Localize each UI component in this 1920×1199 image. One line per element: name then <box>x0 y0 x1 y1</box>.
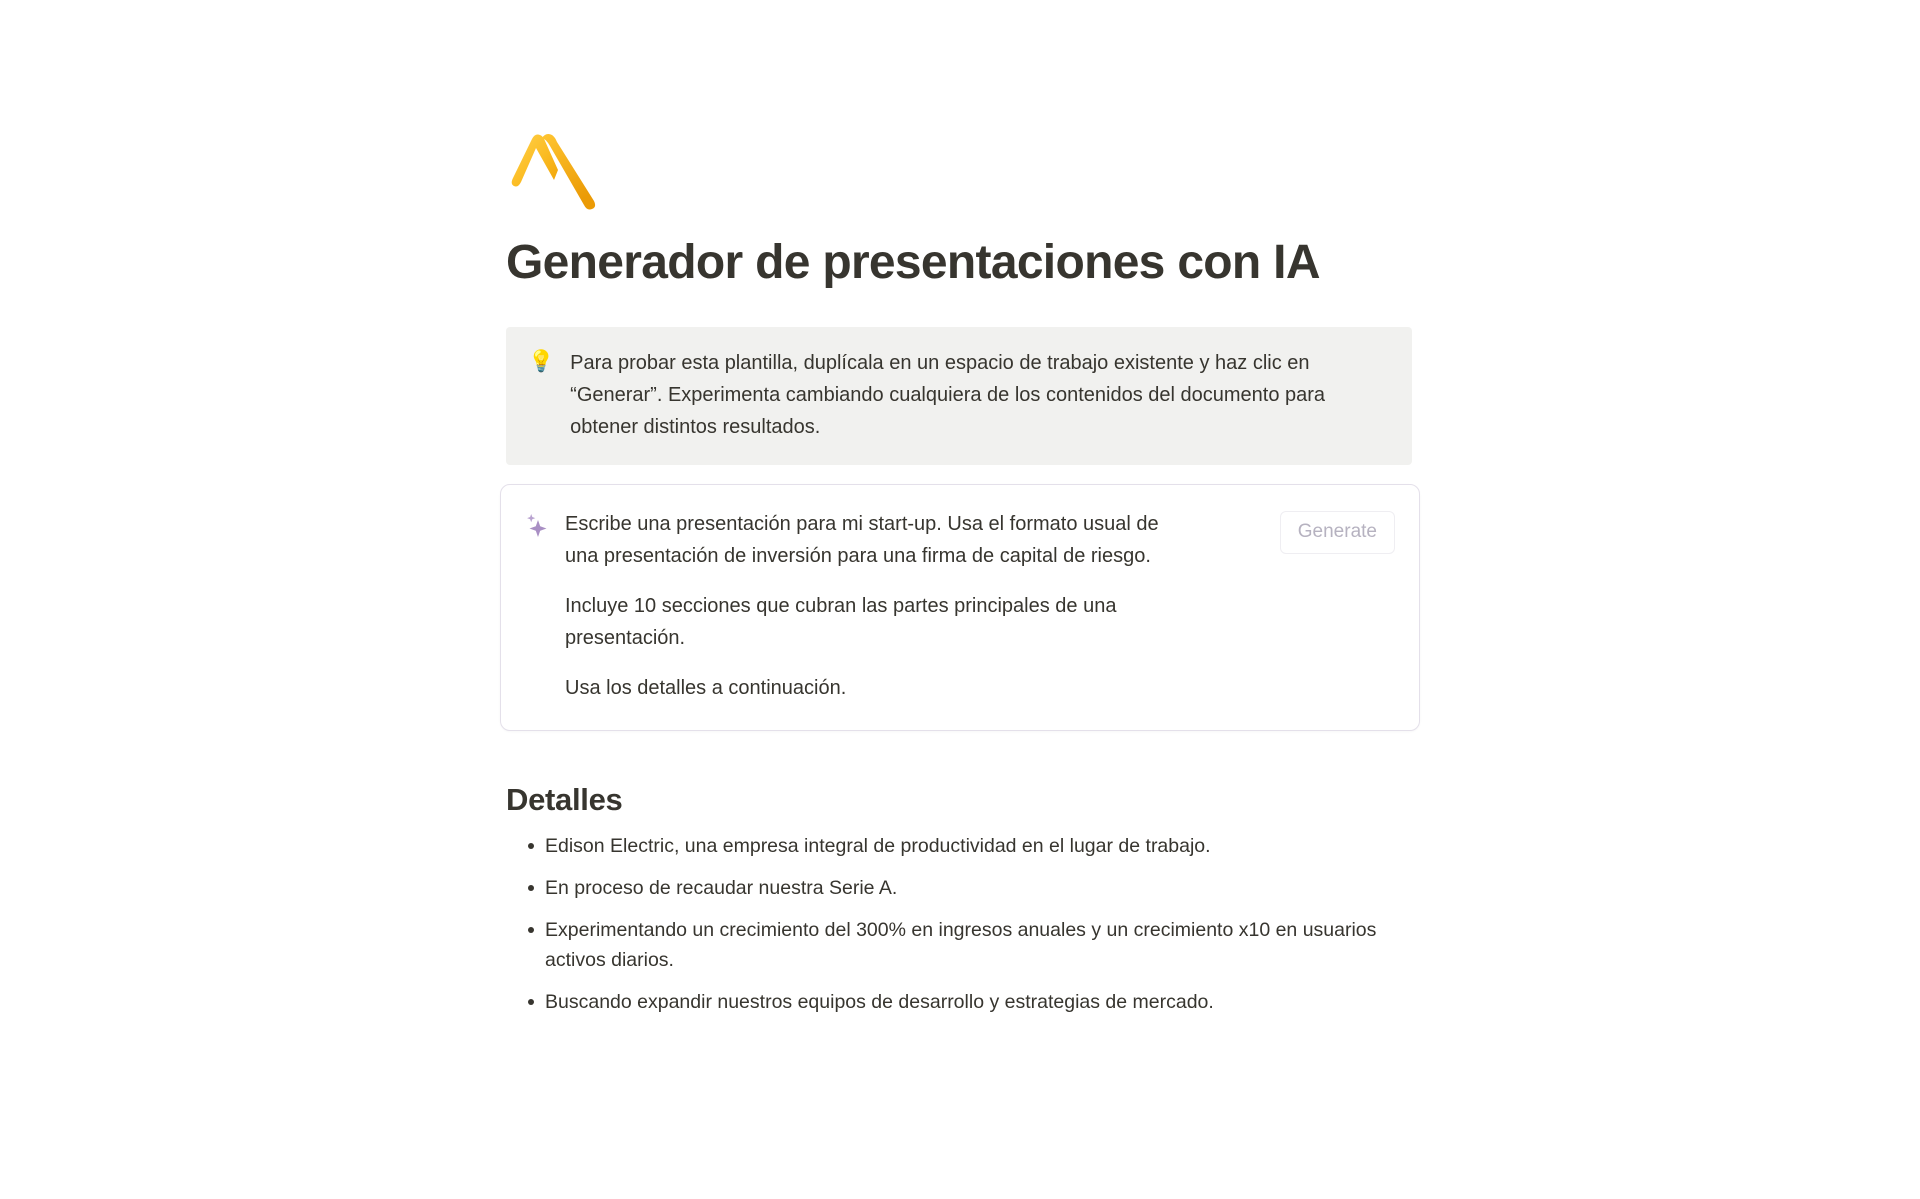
page-title: Generador de presentaciones con IA <box>506 234 1346 293</box>
prompt-paragraph: Usa los detalles a continuación. <box>565 672 1165 704</box>
list-item: Experimentando un crecimiento del 300% e… <box>506 915 1386 975</box>
lightbulb-icon: 💡 <box>528 348 554 376</box>
ai-sparkle-icon <box>525 513 551 541</box>
list-item: Buscando expandir nuestros equipos de de… <box>506 987 1386 1017</box>
list-item: Edison Electric, una empresa integral de… <box>506 831 1386 861</box>
list-item: En proceso de recaudar nuestra Serie A. <box>506 873 1386 903</box>
tip-callout: 💡 Para probar esta plantilla, duplícala … <box>506 327 1412 465</box>
mountain-m-logo-icon <box>506 122 616 210</box>
details-heading: Detalles <box>506 780 1422 820</box>
generate-button[interactable]: Generate <box>1280 511 1395 554</box>
document-content: Generador de presentaciones con IA 💡 Par… <box>506 0 1422 1017</box>
details-list: Edison Electric, una empresa integral de… <box>506 831 1422 1017</box>
document-page: Generador de presentaciones con IA 💡 Par… <box>0 0 1920 1199</box>
prompt-paragraph: Incluye 10 secciones que cubran las part… <box>565 590 1165 654</box>
tip-callout-text: Para probar esta plantilla, duplícala en… <box>570 347 1390 443</box>
ai-prompt-text[interactable]: Escribe una presentación para mi start-u… <box>565 507 1266 704</box>
ai-prompt-block[interactable]: Escribe una presentación para mi start-u… <box>500 484 1420 731</box>
prompt-paragraph: Escribe una presentación para mi start-u… <box>565 508 1165 572</box>
